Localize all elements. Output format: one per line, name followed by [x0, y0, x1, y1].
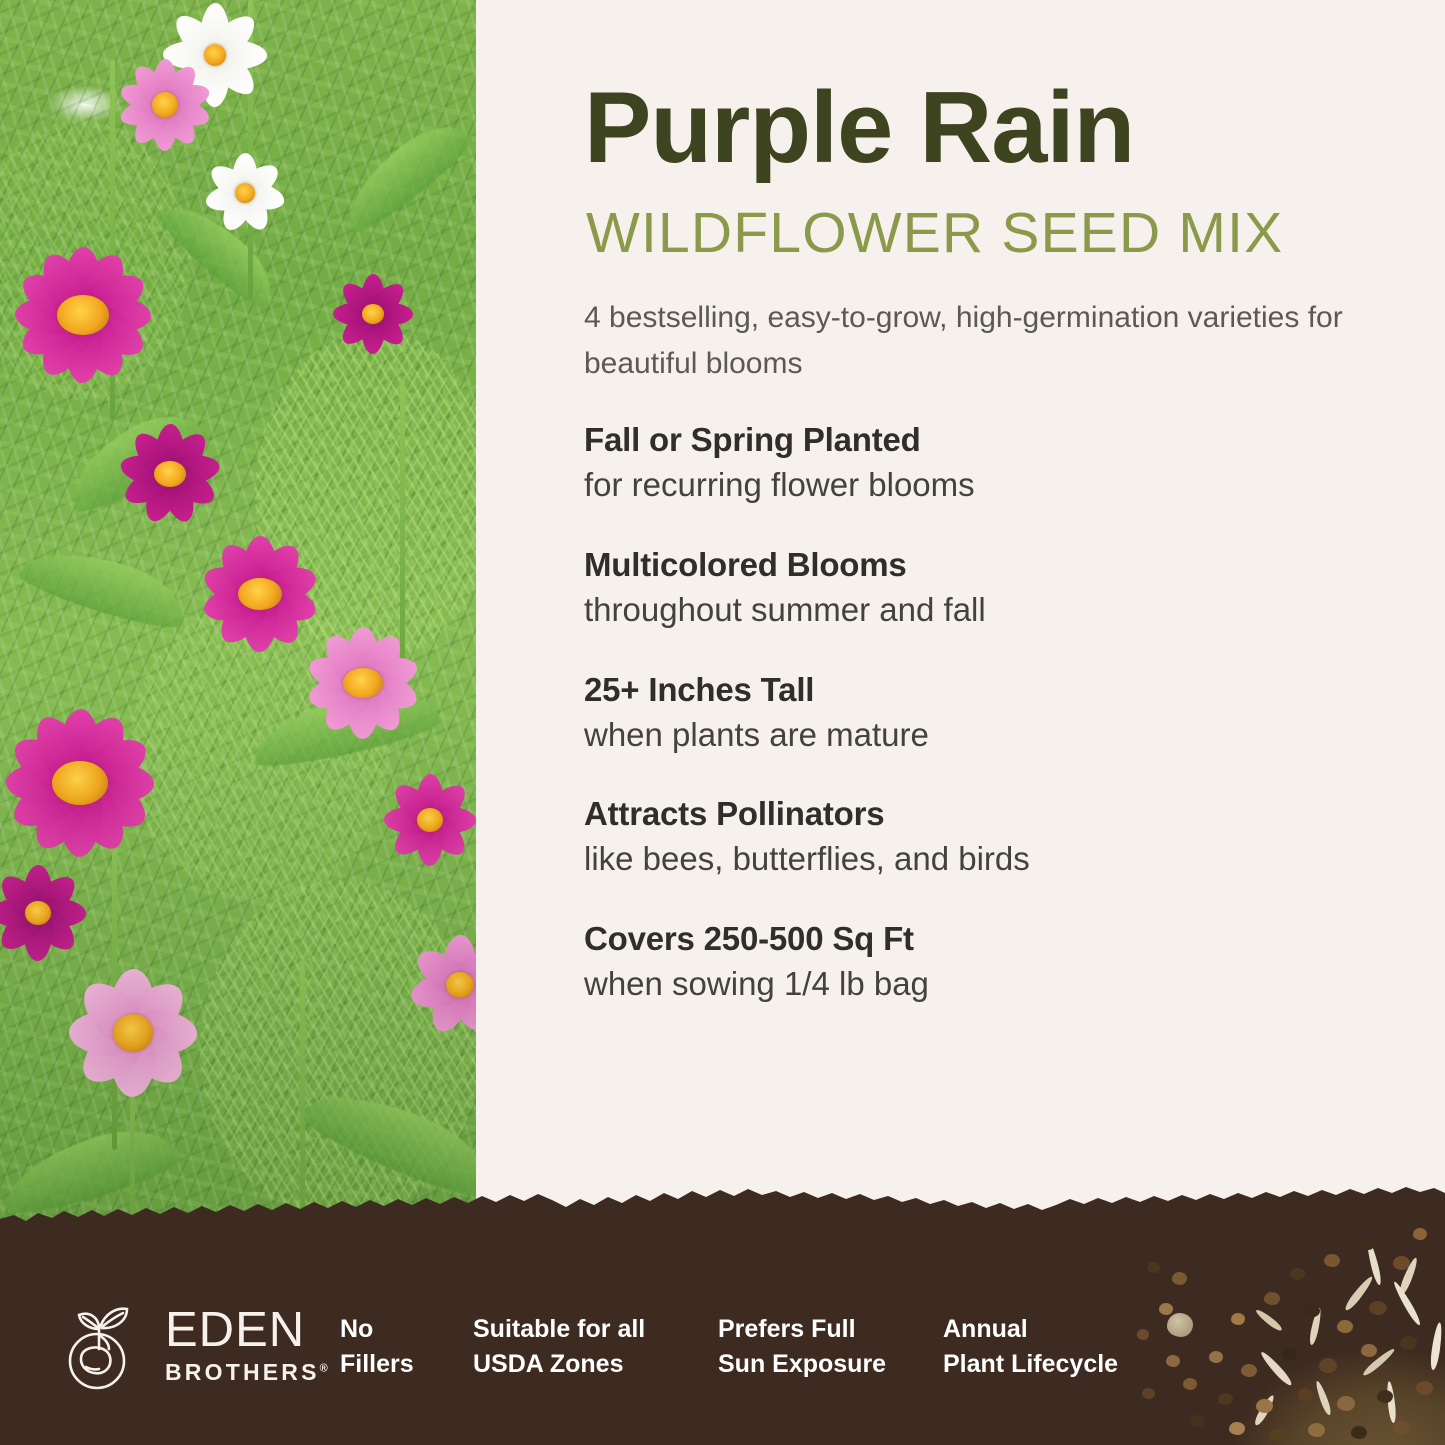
feature-heading: 25+ Inches Tall: [584, 670, 1374, 711]
logo-brand-primary: EDEN: [165, 1306, 328, 1355]
feature-subtext: when plants are mature: [584, 714, 1374, 757]
feature-heading: Covers 250-500 Sq Ft: [584, 919, 1374, 960]
seedling-sprout-icon: [55, 1295, 151, 1395]
product-infographic: Purple Rain WILDFLOWER SEED MIX 4 bestse…: [0, 0, 1445, 1445]
feature-item: Attracts Pollinators like bees, butterfl…: [584, 794, 1374, 881]
tagline: 4 bestselling, easy-to-grow, high-germin…: [584, 295, 1344, 386]
badge-line-1: Annual: [943, 1312, 1118, 1347]
wildflower-meadow-photo: [0, 0, 476, 1300]
photo-vignette: [0, 0, 476, 1300]
footer-badge-usda-zones: Suitable for all USDA Zones: [473, 1312, 645, 1381]
feature-subtext: when sowing 1/4 lb bag: [584, 963, 1374, 1006]
feature-heading: Fall or Spring Planted: [584, 420, 1374, 461]
badge-line-2: USDA Zones: [473, 1347, 645, 1382]
badge-line-2: Sun Exposure: [718, 1347, 886, 1382]
content-panel: Purple Rain WILDFLOWER SEED MIX 4 bestse…: [476, 0, 1445, 1300]
feature-item: 25+ Inches Tall when plants are mature: [584, 670, 1374, 757]
feature-item: Fall or Spring Planted for recurring flo…: [584, 420, 1374, 507]
footer-badge-sun-exposure: Prefers Full Sun Exposure: [718, 1312, 886, 1381]
footer-badge-no-fillers: No Fillers: [340, 1312, 414, 1381]
badge-line-2: Fillers: [340, 1347, 414, 1382]
torn-soil-edge: [0, 1185, 1445, 1255]
feature-subtext: for recurring flower blooms: [584, 464, 1374, 507]
logo-brand-secondary: BROTHERS®: [165, 1361, 328, 1384]
footer-badge-lifecycle: Annual Plant Lifecycle: [943, 1312, 1118, 1381]
footer-bar: EDEN BROTHERS® No Fillers Suitable for a…: [0, 1255, 1445, 1445]
badge-line-1: Prefers Full: [718, 1312, 886, 1347]
feature-item: Covers 250-500 Sq Ft when sowing 1/4 lb …: [584, 919, 1374, 1006]
page-subtitle: WILDFLOWER SEED MIX: [586, 205, 1283, 262]
badge-line-1: No: [340, 1312, 414, 1347]
feature-item: Multicolored Blooms throughout summer an…: [584, 545, 1374, 632]
badge-line-1: Suitable for all: [473, 1312, 645, 1347]
feature-subtext: throughout summer and fall: [584, 589, 1374, 632]
badge-line-2: Plant Lifecycle: [943, 1347, 1118, 1382]
eden-brothers-logo: EDEN BROTHERS®: [55, 1295, 328, 1395]
page-title: Purple Rain: [584, 78, 1134, 179]
feature-heading: Multicolored Blooms: [584, 545, 1374, 586]
feature-heading: Attracts Pollinators: [584, 794, 1374, 835]
feature-list: Fall or Spring Planted for recurring flo…: [584, 420, 1374, 1044]
feature-subtext: like bees, butterflies, and birds: [584, 838, 1374, 881]
